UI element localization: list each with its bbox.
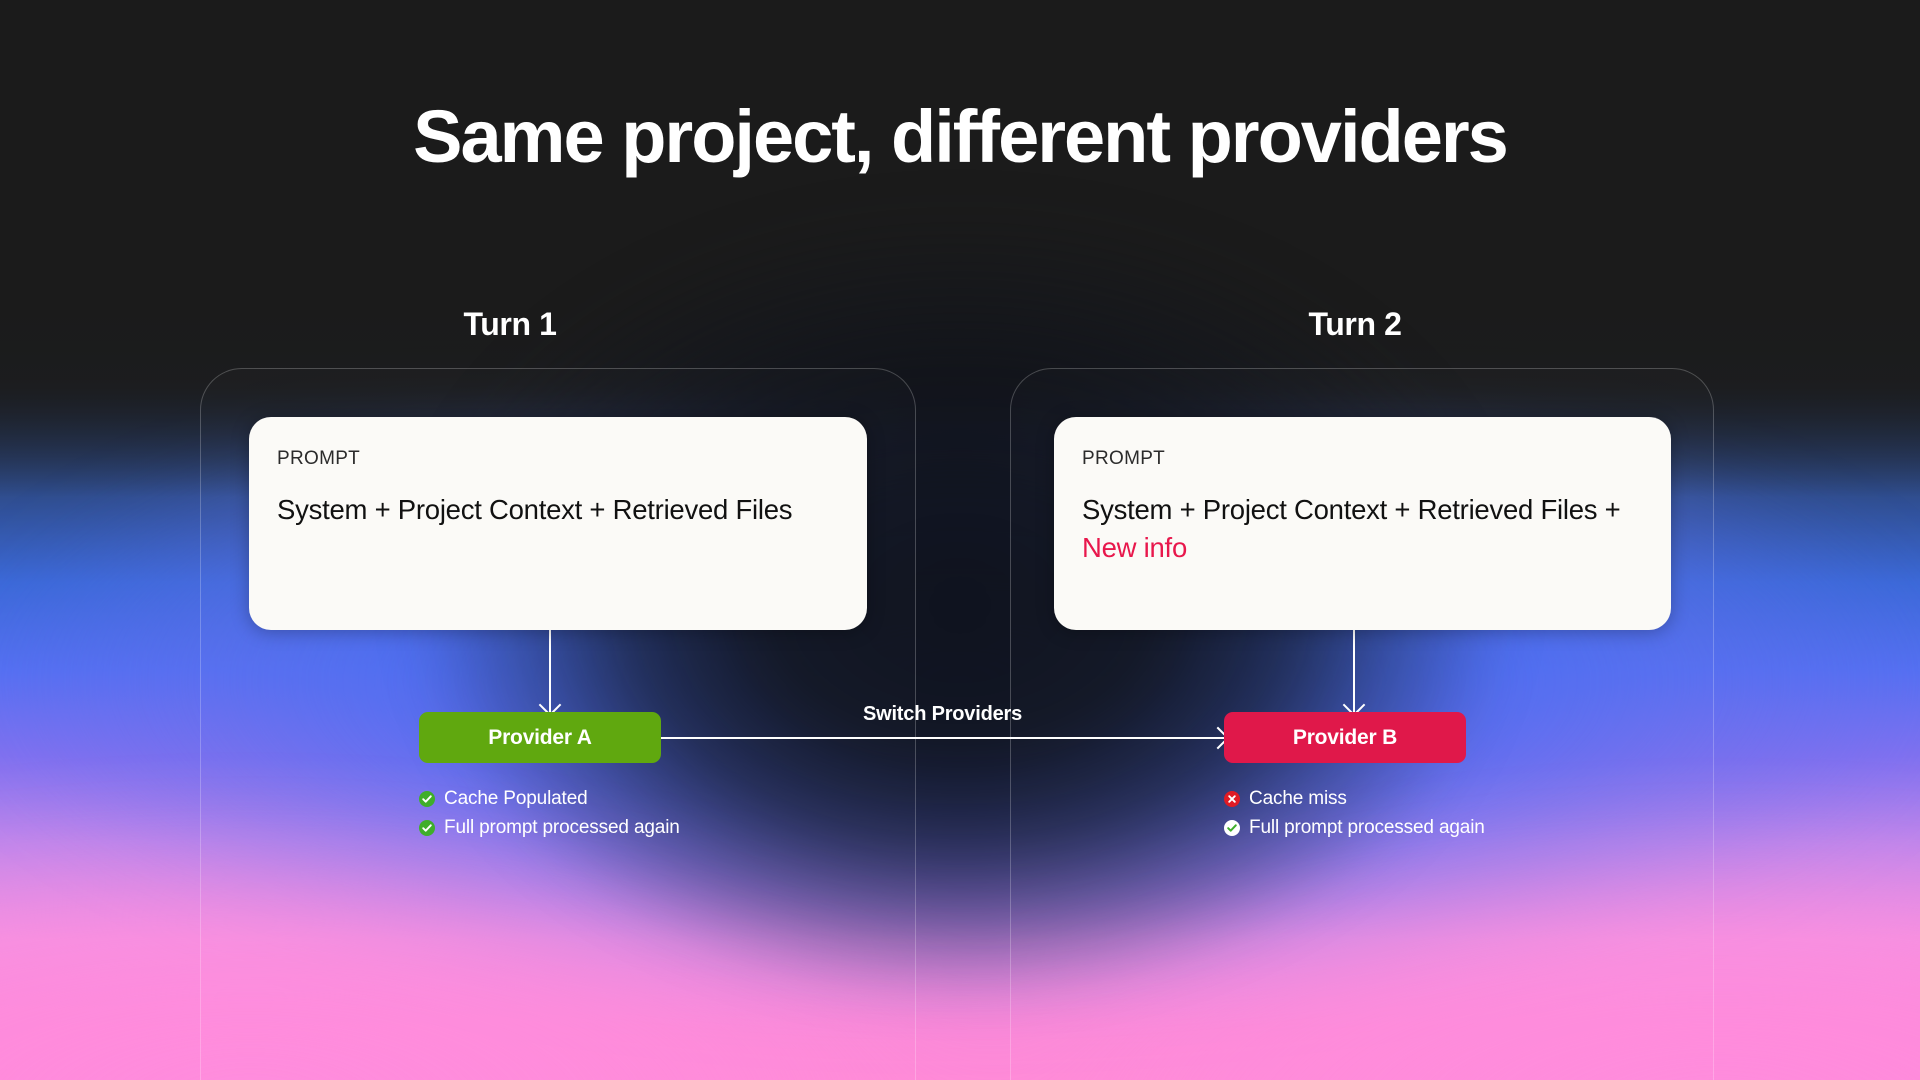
turn-2-label: Turn 2 — [1265, 306, 1445, 343]
status-list-turn-2: Cache miss Full prompt processed again — [1224, 786, 1485, 844]
status-item: Full prompt processed again — [419, 815, 680, 840]
status-text: Cache miss — [1249, 789, 1347, 808]
turn-1-label: Turn 1 — [420, 306, 600, 343]
prompt-body: System + Project Context + Retrieved Fil… — [277, 491, 839, 529]
status-text: Full prompt processed again — [444, 818, 680, 837]
switch-providers-label: Switch Providers — [660, 703, 1225, 726]
status-text: Full prompt processed again — [1249, 818, 1485, 837]
check-circle-icon — [419, 820, 435, 836]
prompt-card-turn-2: PROMPT System + Project Context + Retrie… — [1054, 417, 1671, 630]
provider-a-pill[interactable]: Provider A — [419, 712, 661, 763]
x-circle-icon — [1224, 791, 1240, 807]
prompt-kicker: PROMPT — [1082, 449, 1643, 468]
status-item: Cache Populated — [419, 786, 680, 811]
prompt-body-highlight: New info — [1082, 532, 1187, 563]
prompt-body: System + Project Context + Retrieved Fil… — [1082, 491, 1643, 567]
prompt-body-base: System + Project Context + Retrieved Fil… — [1082, 494, 1620, 525]
provider-b-pill[interactable]: Provider B — [1224, 712, 1466, 763]
status-text: Cache Populated — [444, 789, 588, 808]
check-circle-icon — [419, 791, 435, 807]
prompt-card-turn-1: PROMPT System + Project Context + Retrie… — [249, 417, 867, 630]
page-title: Same project, different providers — [0, 100, 1920, 174]
provider-a-label: Provider A — [488, 726, 591, 750]
status-item: Full prompt processed again — [1224, 815, 1485, 840]
arrow-prompt-to-provider-a — [549, 630, 551, 712]
prompt-kicker: PROMPT — [277, 449, 839, 468]
status-list-turn-1: Cache Populated Full prompt processed ag… — [419, 786, 680, 844]
status-item: Cache miss — [1224, 786, 1485, 811]
check-circle-icon — [1224, 820, 1240, 836]
slide-canvas: Same project, different providers Turn 1… — [0, 0, 1920, 1080]
provider-b-label: Provider B — [1293, 726, 1397, 750]
prompt-body-base: System + Project Context + Retrieved Fil… — [277, 494, 792, 525]
arrow-switch-providers — [660, 737, 1225, 739]
arrow-prompt-to-provider-b — [1353, 630, 1355, 712]
